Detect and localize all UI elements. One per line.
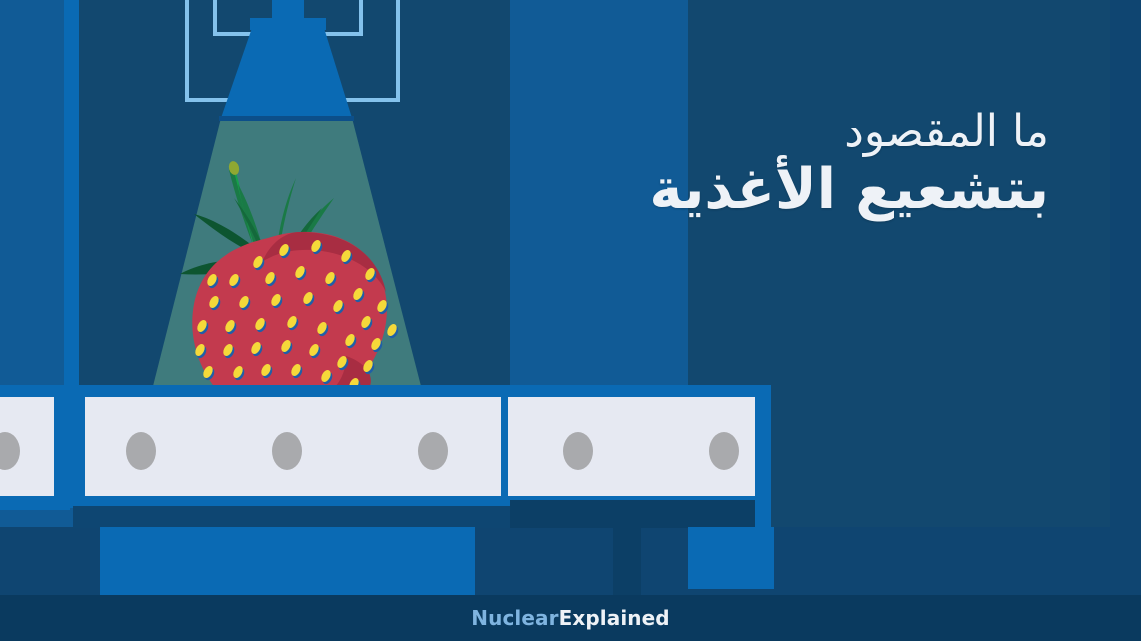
title-block: ما المقصود بتشعيع الأغذية <box>649 108 1049 220</box>
footer-bar: NuclearExplained <box>0 595 1141 641</box>
conveyor-roller <box>418 432 448 470</box>
brand-word-explained: Explained <box>559 606 670 630</box>
title-line-2: بتشعيع الأغذية <box>649 160 1049 220</box>
frame-post-right <box>755 385 771 530</box>
conveyor-roller <box>126 432 156 470</box>
deco-outline-inner <box>213 0 363 36</box>
brand-word-nuclear: Nuclear <box>471 606 558 630</box>
conveyor-roller <box>709 432 739 470</box>
conveyor-pedestal <box>100 527 475 597</box>
conveyor-underframe <box>73 506 510 528</box>
conveyor-pedestal-right <box>688 527 774 589</box>
conveyor-roller <box>563 432 593 470</box>
thumbnail-stage: ما المقصود بتشعيع الأغذية NuclearExplain… <box>0 0 1141 641</box>
title-line-1: ما المقصود <box>649 108 1049 156</box>
conveyor-roller <box>272 432 302 470</box>
brand-logo: NuclearExplained <box>471 606 669 630</box>
conveyor-pedestal-stem <box>613 500 641 595</box>
